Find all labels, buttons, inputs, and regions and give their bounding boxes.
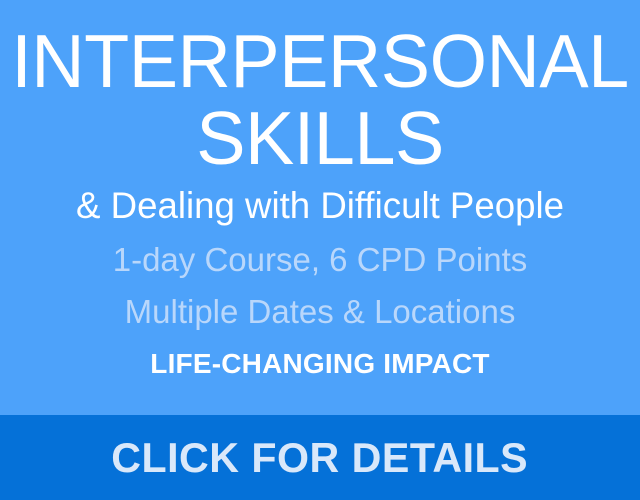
impact-tagline: LIFE-CHANGING IMPACT [0, 347, 640, 381]
detail-line-course-duration: 1-day Course, 6 CPD Points [0, 239, 640, 281]
cta-button-label: CLICK FOR DETAILS [112, 435, 529, 481]
cta-button[interactable]: CLICK FOR DETAILS [0, 415, 640, 500]
banner-content-area: INTERPERSONAL SKILLS & Dealing with Diff… [0, 0, 640, 415]
headline-line-2: SKILLS [5, 100, 635, 176]
detail-line-dates-locations: Multiple Dates & Locations [0, 291, 640, 333]
course-ad-banner[interactable]: INTERPERSONAL SKILLS & Dealing with Diff… [0, 0, 640, 500]
banner-subtitle: & Dealing with Difficult People [3, 184, 637, 228]
headline-block: INTERPERSONAL SKILLS [0, 22, 640, 176]
headline-line-1: INTERPERSONAL [5, 22, 635, 100]
